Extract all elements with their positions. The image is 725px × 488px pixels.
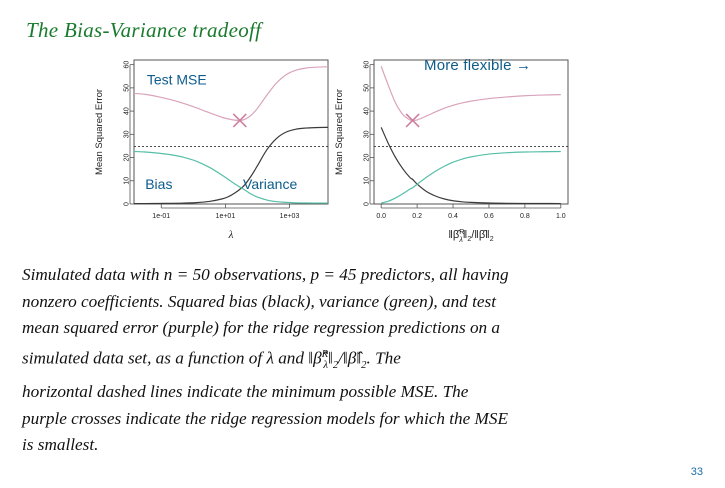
chart-norm-ratio: 01020304050600.00.20.40.60.81.0Mean Squa… — [328, 52, 578, 257]
y-axis-tick-label: 0 — [364, 202, 371, 206]
caption-line-6: purple crosses indicate the ridge regres… — [22, 409, 508, 428]
series-curve-variance — [381, 152, 561, 204]
plot-label-test-mse: Test MSE — [147, 71, 207, 87]
x-axis-title: λ — [228, 229, 234, 241]
y-axis-tick-label: 50 — [364, 84, 371, 92]
y-axis-tick-label: 60 — [124, 61, 131, 69]
x-axis-tick-label: 0.4 — [448, 213, 458, 220]
x-axis-tick-label: 0.2 — [412, 213, 422, 220]
y-axis-tick-label: 40 — [364, 107, 371, 115]
x-axis-tick-label: 1e+01 — [216, 213, 236, 220]
x-axis-tick-label: 0.0 — [376, 213, 386, 220]
series-curve-squared-bias — [381, 127, 561, 203]
chart-lambda: 01020304050601e-011e+011e+03Test MSEBias… — [88, 52, 338, 257]
caption-lambda-symbol: λ — [266, 348, 273, 367]
page-number: 33 — [691, 466, 703, 478]
y-axis-tick-label: 30 — [124, 130, 131, 138]
figure-caption: Simulated data with n = 50 observations,… — [22, 262, 706, 459]
series-curve-test-mse — [381, 66, 561, 120]
plot-label-bias: Bias — [145, 176, 172, 192]
x-axis-tick-label: 1.0 — [556, 213, 566, 220]
x-axis-title: ‖β̂Rλ‖2/‖β̂‖2 — [448, 229, 493, 244]
y-axis-tick-label: 40 — [124, 107, 131, 115]
plot-label-variance: Variance — [243, 176, 297, 192]
y-axis-title: Mean Squared Error — [334, 89, 345, 175]
caption-line-4-pre: simulated data set, as a function of — [22, 348, 266, 367]
x-axis-tick-label: 1e+03 — [280, 213, 300, 220]
caption-line-4-mid: and — [274, 348, 308, 367]
caption-line-2: nonzero coefficients. Squared bias (blac… — [22, 292, 496, 311]
y-axis-tick-label: 10 — [364, 177, 371, 185]
y-axis-title: Mean Squared Error — [94, 89, 105, 175]
plot-frame — [374, 60, 568, 204]
caption-line-7: is smallest. — [22, 435, 98, 454]
caption-line-3: mean squared error (purple) for the ridg… — [22, 318, 500, 337]
y-axis-tick-label: 30 — [364, 130, 371, 138]
page-title: The Bias-Variance tradeoff — [26, 18, 261, 43]
caption-line-5: horizontal dashed lines indicate the min… — [22, 382, 468, 401]
series-curve-squared-bias — [134, 127, 328, 203]
caption-norm-open: ‖β̂ — [308, 348, 321, 367]
y-axis-tick-label: 60 — [364, 61, 371, 69]
y-axis-tick-label: 50 — [124, 84, 131, 92]
caption-norm-denominator: /‖β̂‖ — [338, 348, 361, 367]
x-axis-tick-label: 0.8 — [520, 213, 530, 220]
x-axis-tick-label: 1e-01 — [152, 213, 170, 220]
figure-area: 01020304050601e-011e+011e+03Test MSEBias… — [0, 52, 725, 257]
x-axis-tick-label: 0.6 — [484, 213, 494, 220]
y-axis-tick-label: 0 — [124, 202, 131, 206]
y-axis-tick-label: 20 — [124, 154, 131, 162]
svg-text:‖β̂Rλ‖2/‖β̂‖2: ‖β̂Rλ‖2/‖β̂‖2 — [448, 229, 493, 244]
y-axis-tick-label: 20 — [364, 154, 371, 162]
caption-line-1: Simulated data with n = 50 observations,… — [22, 265, 509, 284]
slide-root: The Bias-Variance tradeoff More flexible… — [0, 0, 725, 488]
y-axis-tick-label: 10 — [124, 177, 131, 185]
caption-line-4-post: . The — [366, 348, 400, 367]
